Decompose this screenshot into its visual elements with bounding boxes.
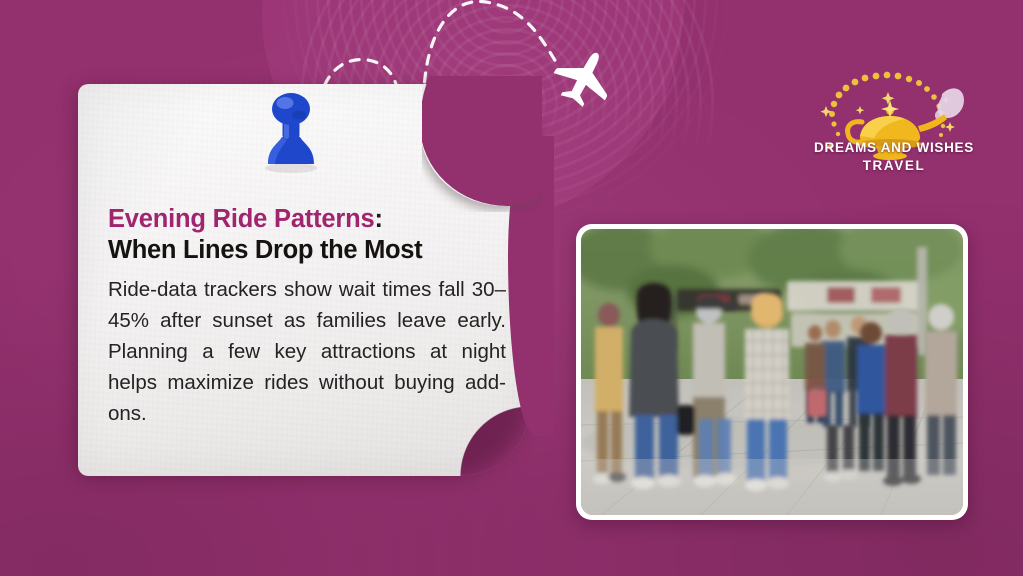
poster-canvas: Evening Ride Patterns: When Lines Drop t… <box>0 0 1023 576</box>
note-eyebrow-text: Evening Ride Patterns <box>108 205 374 233</box>
brand-logo[interactable]: DREAMS AND WISHES TRAVEL <box>800 62 988 184</box>
paper-corner-curl <box>422 76 542 212</box>
note-headline: When Lines Drop the Most <box>108 235 514 266</box>
airplane-icon <box>546 39 623 114</box>
photo-frame <box>581 229 963 515</box>
note-eyebrow-colon: : <box>374 205 382 233</box>
photo-card <box>576 224 968 520</box>
queue-photo <box>581 229 963 515</box>
logo-subtitle: TRAVEL <box>800 158 988 173</box>
pushpin-icon <box>255 88 327 174</box>
note-text-block: Evening Ride Patterns: When Lines Drop t… <box>108 204 514 429</box>
logo-title: DREAMS AND WISHES <box>800 140 988 156</box>
note-eyebrow: Evening Ride Patterns: <box>108 204 514 234</box>
note-body-text: Ride-data trackers show wait times fall … <box>108 274 506 430</box>
